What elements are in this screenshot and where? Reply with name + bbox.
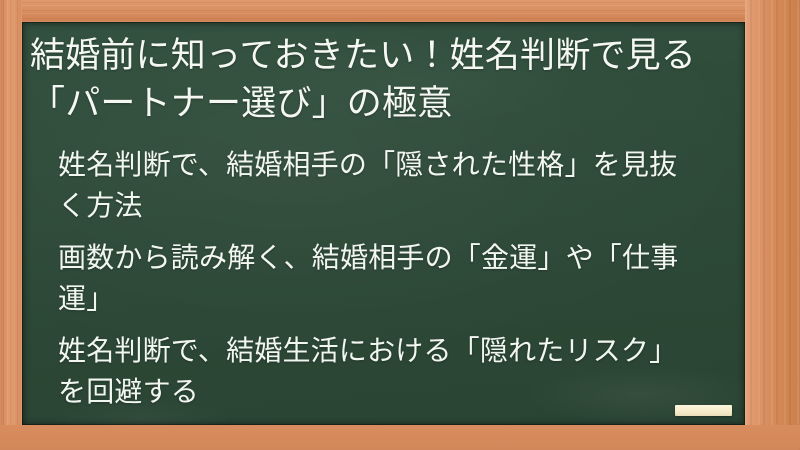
frame-left-rail	[0, 0, 22, 450]
frame-top-rail	[0, 0, 800, 22]
frame-right-rail	[745, 0, 800, 450]
topic-list: 姓名判断で、結婚相手の「隠された性格」を見抜く方法 画数から読み解く、結婚相手の…	[30, 144, 723, 412]
blackboard-slide: 結婚前に知っておきたい！姓名判断で見る「パートナー選び」の極意 姓名判断で、結婚…	[0, 0, 800, 450]
slide-title: 結婚前に知っておきたい！姓名判断で見る「パートナー選び」の極意	[30, 32, 723, 128]
blackboard-surface: 結婚前に知っておきたい！姓名判断で見る「パートナー選び」の極意 姓名判断で、結婚…	[22, 22, 745, 425]
list-item: 姓名判断で、結婚相手の「隠された性格」を見抜く方法	[58, 144, 723, 226]
board-content: 結婚前に知っておきたい！姓名判断で見る「パートナー選び」の極意 姓名判断で、結婚…	[22, 22, 745, 412]
list-item: 画数から読み解く、結婚相手の「金運」や「仕事運」	[58, 237, 723, 319]
list-item: 姓名判断で、結婚生活における「隠れたリスク」を回避する	[58, 330, 723, 412]
chalk-stick-icon	[675, 405, 732, 416]
frame-bottom-rail	[0, 425, 800, 450]
